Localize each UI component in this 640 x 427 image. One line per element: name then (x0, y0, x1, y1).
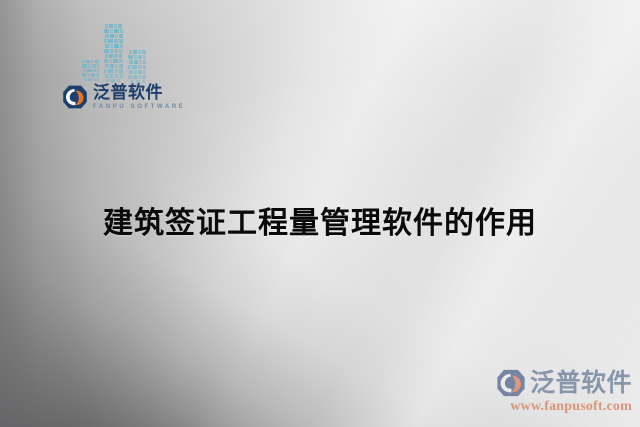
brand-text-block: 泛普软件 FANPU SOFTWARE (93, 84, 185, 110)
skyline-pixel (115, 49, 118, 53)
skyline-pixel (143, 65, 146, 69)
skyline-pixel (138, 50, 141, 54)
skyline-pixel (110, 34, 114, 38)
skyline-pixel (109, 54, 113, 58)
skyline-pixel (128, 65, 131, 69)
skyline-pixel (110, 64, 114, 68)
skyline-pixel (134, 70, 137, 74)
skyline-pixel (111, 79, 115, 82)
skyline-pixel (143, 70, 146, 74)
skyline-pixel (114, 54, 118, 58)
skyline-pixel (110, 44, 113, 48)
brand-lockup: 泛普软件 FANPU SOFTWARE (62, 84, 185, 110)
skyline-pixel (119, 69, 123, 73)
skyline-pixel (120, 29, 123, 33)
skyline-pixel (117, 79, 120, 82)
skyline-pixel (134, 60, 138, 64)
skyline-pixel (119, 34, 123, 38)
skyline-pixel (105, 64, 109, 68)
skyline-pixel (105, 44, 109, 48)
fanpu-logo-icon (62, 84, 88, 110)
skyline-pixel (115, 64, 118, 68)
pixel-skyline-icon (82, 20, 164, 84)
skyline-pixel (82, 60, 85, 63)
skyline-pixel (108, 69, 113, 73)
skyline-pixel (82, 64, 87, 68)
skyline-pixel (138, 65, 142, 69)
skyline-pixel (129, 60, 133, 64)
skyline-pixel (88, 78, 92, 81)
skyline-pixel (114, 29, 119, 33)
skyline-pixel (105, 54, 108, 58)
skyline-pixel (96, 73, 99, 77)
skyline-pixel (83, 69, 86, 72)
skyline-pixel (108, 39, 113, 43)
skyline-pixel (129, 70, 133, 74)
skyline-pixel (104, 69, 107, 73)
skyline-pixel (87, 73, 90, 77)
skyline-pixel (104, 29, 109, 33)
skyline-pixel (119, 39, 123, 43)
skyline-pixel (138, 55, 142, 59)
skyline-pixel (92, 64, 96, 68)
skyline-pixel (128, 55, 133, 59)
skyline-pixel (109, 24, 113, 28)
skyline-pixel (95, 60, 99, 63)
skyline-pixel (119, 59, 123, 63)
skyline-pixel (97, 69, 99, 72)
watermark-row: 泛普软件 (496, 368, 632, 398)
skyline-pixel (106, 79, 109, 82)
skyline-pixel (142, 75, 146, 79)
skyline-pixel (82, 73, 86, 77)
skyline-pixel (110, 49, 114, 53)
skyline-pixel (133, 75, 137, 79)
skyline-pixel (105, 74, 109, 78)
skyline-pixel (109, 59, 112, 63)
fanpu-logo-watermark-icon (496, 368, 526, 398)
skyline-pixel (119, 54, 122, 58)
skyline-pixel (132, 65, 137, 69)
skyline-pixel (138, 70, 142, 74)
skyline-pixel (115, 74, 119, 78)
skyline-pixel (119, 49, 123, 53)
watermark-name-cn: 泛普软件 (530, 371, 632, 396)
skyline-pixel (114, 24, 117, 28)
skyline-pixel (86, 60, 90, 63)
page-title: 建筑签证工程量管理软件的作用 (0, 198, 640, 242)
skyline-pixel (120, 44, 123, 48)
skyline-pixel (104, 49, 109, 53)
skyline-pixel (110, 74, 113, 78)
skyline-pixel (104, 59, 108, 63)
skyline-pixel (143, 55, 146, 59)
skyline-pixel (91, 73, 95, 77)
skyline-pixel (138, 75, 141, 79)
brand-name-en: FANPU SOFTWARE (93, 104, 185, 110)
skyline-pixel (139, 60, 142, 64)
skyline-pixel (114, 69, 118, 73)
skyline-pixel (114, 39, 118, 43)
skyline-pixel (134, 55, 137, 59)
skyline-pixel (119, 64, 123, 68)
skyline-pixel (87, 69, 92, 72)
skyline-pixel (128, 75, 132, 79)
skyline-pixel (129, 50, 132, 54)
skyline-pixel (93, 78, 96, 81)
skyline-pixel (88, 64, 91, 68)
skyline-pixel (105, 34, 109, 38)
skyline-pixel (120, 74, 123, 78)
skyline-pixel (93, 69, 96, 72)
skyline-pixel (115, 34, 118, 38)
brand-name-cn: 泛普软件 (93, 84, 185, 101)
skyline-pixel (133, 50, 137, 54)
skyline-pixel (113, 59, 118, 63)
skyline-pixel (114, 44, 119, 48)
skyline-pixel (91, 60, 94, 63)
watermark: 泛普软件 www.fanpusoft.com (496, 368, 632, 415)
skyline-pixel (84, 78, 87, 81)
skyline-pixel (105, 24, 108, 28)
skyline-pixel (118, 24, 122, 28)
skyline-pixel (97, 78, 99, 81)
skyline-pixel (110, 29, 113, 33)
banner-canvas: 泛普软件 FANPU SOFTWARE 建筑签证工程量管理软件的作用 泛普软件 … (0, 0, 640, 427)
skyline-pixel (97, 64, 99, 68)
skyline-pixel (143, 60, 146, 64)
skyline-pixel (142, 50, 146, 54)
skyline-pixel (104, 39, 107, 43)
watermark-url: www.fanpusoft.com (510, 399, 632, 415)
